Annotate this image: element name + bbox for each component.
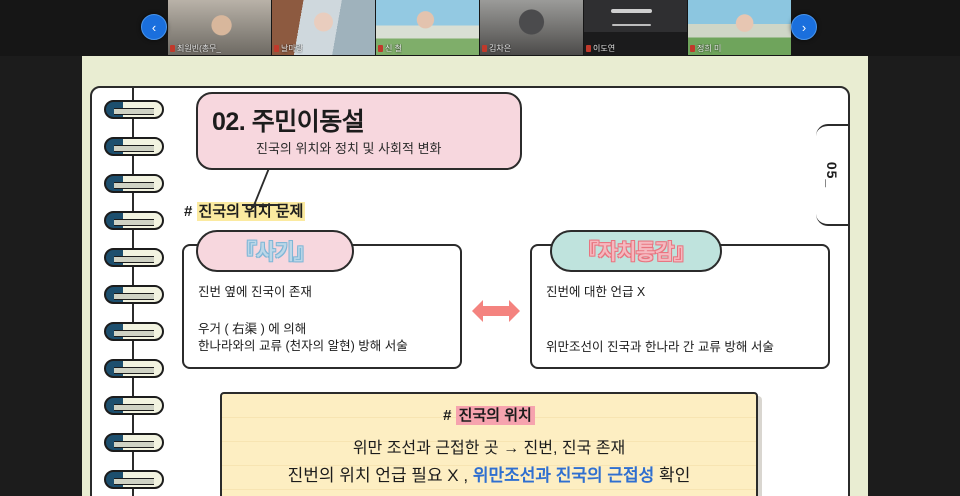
notebook-page: 05_ 02. 주민이동설 진국의 위치와 정치 및 사회적 변화 # 진국의 … bbox=[90, 86, 850, 496]
spiral-ring bbox=[104, 470, 164, 489]
hash-marker: # bbox=[184, 203, 197, 220]
slide-title: 02. 주민이동설 bbox=[212, 102, 364, 138]
participant-name: 최원빈(총무_ bbox=[170, 44, 221, 54]
participant-name: 신 철 bbox=[378, 44, 402, 54]
hash-marker: # bbox=[443, 407, 456, 424]
card-line: 진번 옆에 진국이 존재 bbox=[198, 284, 446, 301]
mic-muted-icon bbox=[170, 45, 175, 52]
double-headed-arrow-icon bbox=[472, 296, 520, 326]
title-callout: 02. 주민이동설 진국의 위치와 정치 및 사회적 변화 bbox=[196, 92, 522, 170]
prev-participants-button[interactable]: ‹ bbox=[141, 14, 167, 40]
participant-name: 김차은 bbox=[482, 44, 511, 54]
card-line: 우거 ( 右渠 ) 에 의해 bbox=[198, 321, 446, 338]
spiral-ring bbox=[104, 285, 164, 304]
chevron-left-icon: ‹ bbox=[152, 21, 156, 34]
spiral-ring bbox=[104, 100, 164, 119]
participant-tile[interactable]: 날마랑 bbox=[272, 0, 375, 55]
participant-tile[interactable]: 최원빈(총무_ bbox=[168, 0, 271, 55]
mic-muted-icon bbox=[482, 45, 487, 52]
spiral-ring bbox=[104, 137, 164, 156]
participant-name: 정희 미 bbox=[690, 44, 721, 54]
spiral-ring bbox=[104, 396, 164, 415]
mic-muted-icon bbox=[274, 45, 279, 52]
mic-muted-icon bbox=[690, 45, 695, 52]
card-line: 진번에 대한 언급 X bbox=[546, 284, 814, 301]
participant-tile[interactable]: 김차은 bbox=[480, 0, 583, 55]
spiral-ring bbox=[104, 211, 164, 230]
participant-name: 이도연 bbox=[586, 44, 615, 54]
mic-muted-icon bbox=[378, 45, 383, 52]
spiral-ring bbox=[104, 248, 164, 267]
participant-tile[interactable]: 신 철 bbox=[376, 0, 479, 55]
callout-tail-base bbox=[242, 204, 278, 206]
summary-line-2-part-c: 확인 bbox=[654, 466, 690, 485]
screen: 최원빈(총무_ 날마랑 신 철 김차은 이도연 정희 미 ‹ › bbox=[0, 0, 960, 496]
summary-heading: # 진국의 위치 bbox=[222, 404, 756, 425]
source-pill-label: 『자치통감』 bbox=[578, 236, 694, 266]
card-line: 위만조선이 진국과 한나라 간 교류 방해 서술 bbox=[546, 339, 814, 356]
summary-box: # 진국의 위치 위만 조선과 근접한 곳 → 진번, 진국 존재 진번의 위치… bbox=[220, 392, 758, 496]
source-pill-label: 『사기』 bbox=[236, 236, 315, 266]
source-pill-sagi: 『사기』 bbox=[196, 230, 354, 272]
participant-filmstrip: 최원빈(총무_ 날마랑 신 철 김차은 이도연 정희 미 ‹ › bbox=[0, 0, 960, 56]
card-line: 한나라와의 교류 (천자의 알현) 방해 서술 bbox=[198, 338, 446, 355]
spiral-ring bbox=[104, 322, 164, 341]
summary-line-1: 위만 조선과 근접한 곳 → 진번, 진국 존재 bbox=[222, 435, 756, 462]
next-participants-button[interactable]: › bbox=[791, 14, 817, 40]
participant-tile[interactable]: 이도연 bbox=[584, 0, 687, 55]
summary-line-2-emphasis: 위만조선과 진국의 근접성 bbox=[473, 466, 655, 485]
summary-line-2: 진번의 위치 언급 필요 X , 위만조선과 진국의 근접성 확인 bbox=[222, 462, 756, 489]
spiral-ring bbox=[104, 359, 164, 378]
slide-subtitle: 진국의 위치와 정치 및 사회적 변화 bbox=[256, 138, 442, 157]
page-number-label: 05_ bbox=[824, 162, 840, 188]
participant-name: 날마랑 bbox=[274, 44, 303, 54]
source-pill-jachitonggam: 『자치통감』 bbox=[550, 230, 722, 272]
spiral-ring bbox=[104, 433, 164, 452]
page-number-tab: 05_ bbox=[816, 124, 850, 226]
participant-tile[interactable]: 정희 미 bbox=[688, 0, 791, 55]
spiral-ring bbox=[104, 174, 164, 193]
mic-muted-icon bbox=[586, 45, 591, 52]
summary-line-2-part-a: 진번의 위치 언급 필요 X , bbox=[288, 466, 473, 485]
summary-heading-text: 진국의 위치 bbox=[456, 406, 535, 425]
chevron-right-icon: › bbox=[802, 21, 806, 34]
shared-slide[interactable]: 05_ 02. 주민이동설 진국의 위치와 정치 및 사회적 변화 # 진국의 … bbox=[82, 56, 868, 496]
